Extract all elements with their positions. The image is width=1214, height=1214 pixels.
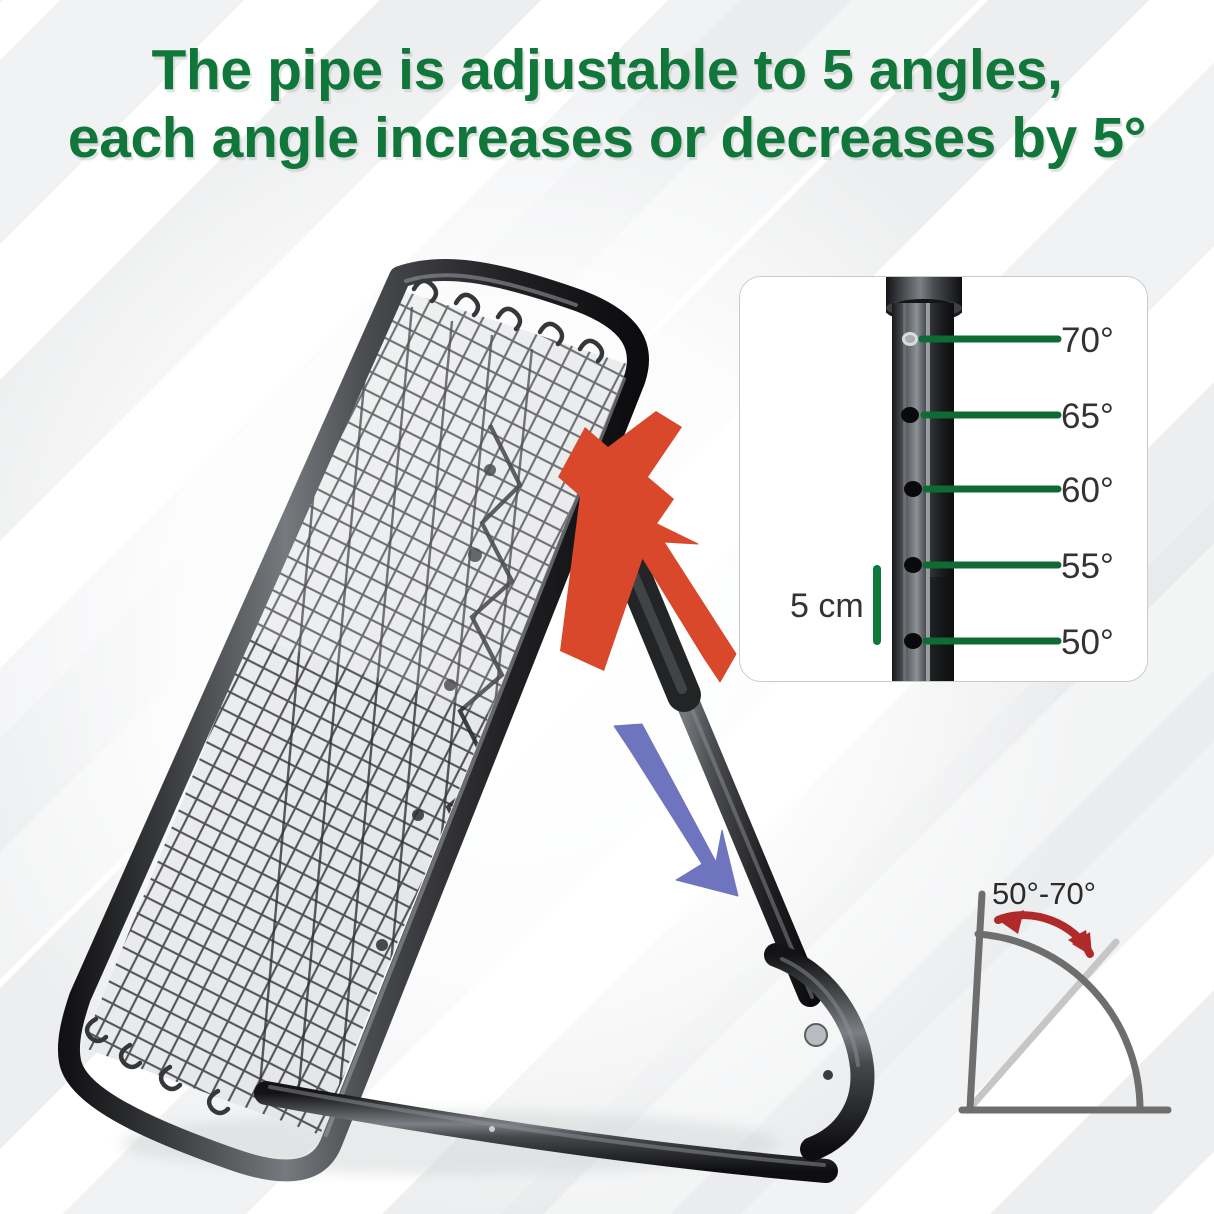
rebound-net-panel <box>40 265 680 1165</box>
angle-label-60: 60° <box>1061 473 1114 508</box>
headline-line-2: each angle increases or decreases by 5° <box>0 104 1214 172</box>
diagram-vertical-line <box>970 894 982 1108</box>
angle-label-70: 70° <box>1061 323 1114 358</box>
increase-angle-arrow <box>586 482 756 702</box>
headline-line-1: The pipe is adjustable to 5 angles, <box>152 38 1063 102</box>
decrease-angle-arrow <box>592 712 762 912</box>
angle-range-label: 50°-70° <box>992 878 1096 909</box>
diagram-range-arrow <box>998 910 1092 956</box>
angle-label-55: 55° <box>1061 549 1114 584</box>
five-cm-label: 5 cm <box>790 589 864 623</box>
infographic-canvas: The pipe is adjustable to 5 angles, each… <box>0 0 1214 1214</box>
diagram-guide-line <box>970 942 1116 1108</box>
hinge-bolt <box>805 1024 827 1046</box>
leg-hinge-joint <box>776 955 862 1149</box>
angle-label-65: 65° <box>1061 399 1114 434</box>
diagram-arc <box>978 934 1140 1110</box>
pipe-detail-card: 70° 65° 60° 55° 50° 5 cm <box>739 276 1148 682</box>
angle-label-50: 50° <box>1061 625 1114 660</box>
headline: The pipe is adjustable to 5 angles, each… <box>0 36 1214 172</box>
